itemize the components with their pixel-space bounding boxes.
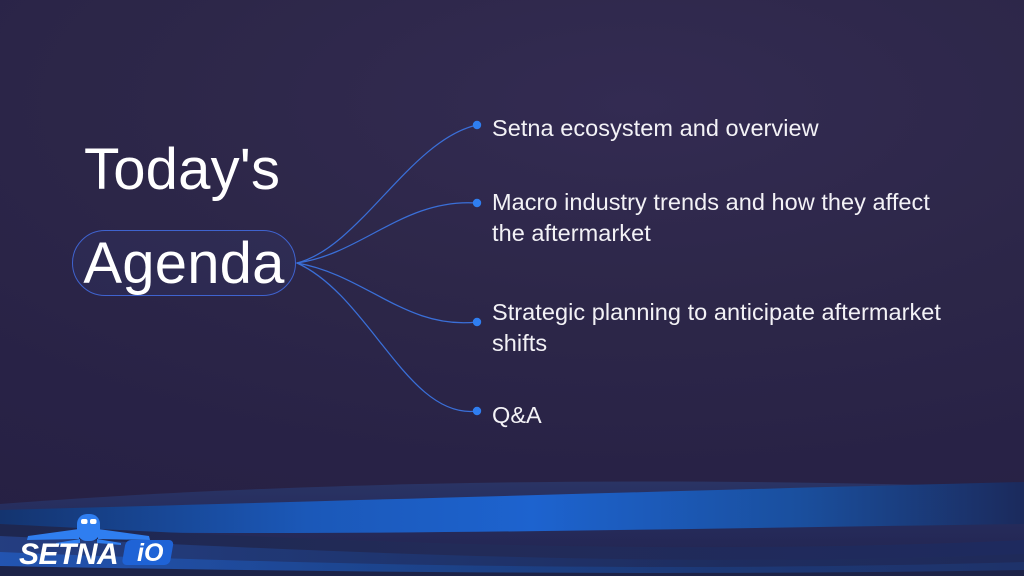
- presentation-slide: Today's Agenda Setna ecosystem and overv…: [0, 0, 1024, 576]
- title-line-2: Agenda: [72, 231, 296, 295]
- slide-title: Today's Agenda: [72, 140, 312, 199]
- agenda-item-1: Setna ecosystem and overview: [492, 113, 952, 144]
- agenda-item-2: Macro industry trends and how they affec…: [492, 187, 952, 249]
- logo-wordmark: SETNA: [19, 538, 118, 568]
- title-line-1: Today's: [72, 140, 312, 199]
- setna-io-logo: SETNA iO: [16, 506, 188, 568]
- logo-io-badge: iO: [122, 539, 174, 567]
- agenda-list: Setna ecosystem and overview Macro indus…: [492, 0, 962, 576]
- logo-badge-text: iO: [137, 539, 164, 567]
- agenda-item-4: Q&A: [492, 400, 952, 431]
- agenda-item-3: Strategic planning to anticipate afterma…: [492, 297, 952, 359]
